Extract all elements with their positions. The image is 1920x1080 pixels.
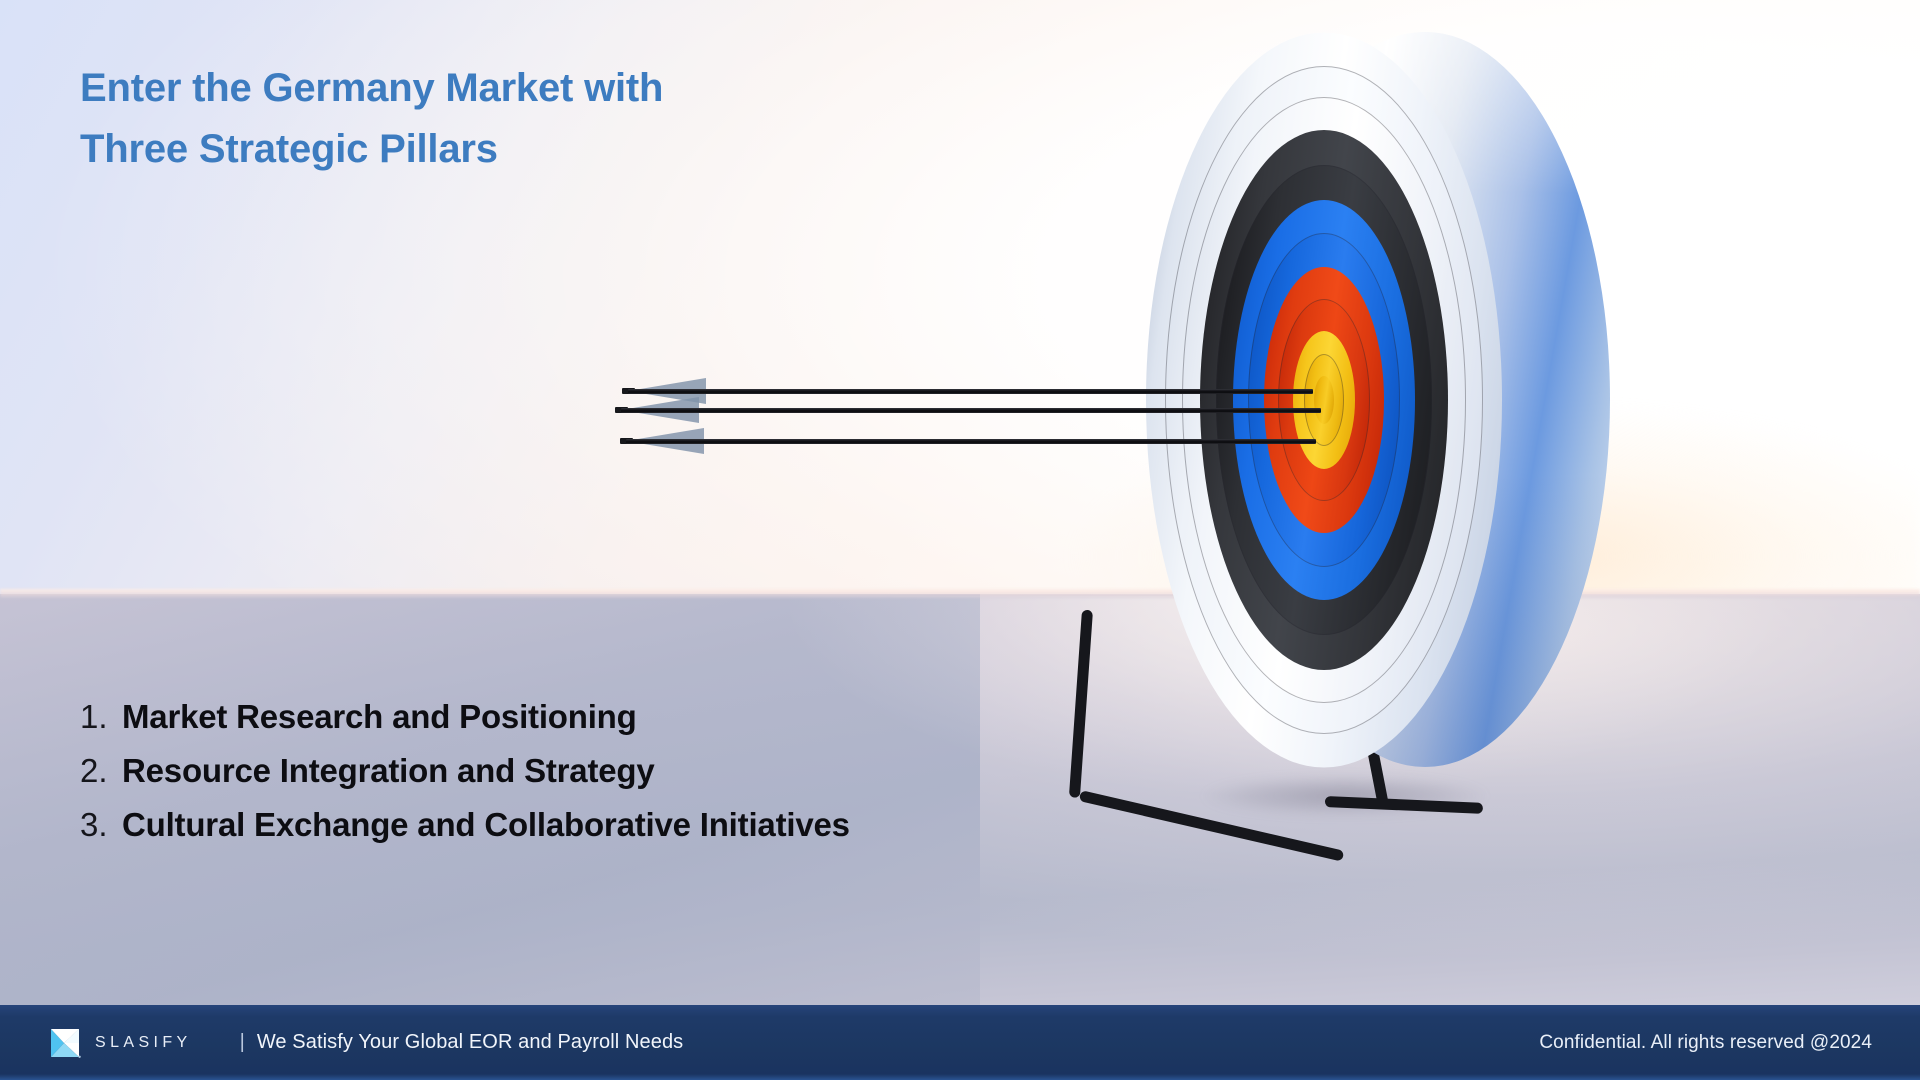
arrow-3-shaft	[626, 439, 1316, 444]
list-item-number: 3.	[80, 808, 122, 841]
archery-target-illustration	[1120, 10, 1640, 1020]
brand-wordmark: SLASIFY	[95, 1034, 192, 1052]
list-item: 3. Cultural Exchange and Collaborative I…	[80, 808, 1140, 841]
slide-canvas: Enter the Germany Market with Three Stra…	[0, 0, 1920, 1080]
footer-copyright: Confidential. All rights reserved @2024	[1539, 1032, 1872, 1054]
list-item-label: Cultural Exchange and Collaborative Init…	[122, 808, 850, 841]
arrow-1-shaft	[628, 389, 1313, 394]
arrow-2-shaft	[621, 408, 1321, 413]
footer-divider: |	[240, 1031, 245, 1054]
strategic-pillars-list: 1. Market Research and Positioning 2. Re…	[80, 700, 1140, 841]
list-item: 2. Resource Integration and Strategy	[80, 754, 1140, 787]
list-item-label: Market Research and Positioning	[122, 700, 637, 733]
footer-bar: SLASIFY | We Satisfy Your Global EOR and…	[0, 1005, 1920, 1080]
slide-title: Enter the Germany Market with Three Stra…	[80, 58, 980, 180]
list-item: 1. Market Research and Positioning	[80, 700, 1140, 733]
list-item-number: 1.	[80, 700, 122, 733]
list-item-number: 2.	[80, 754, 122, 787]
target-ring-divider-6	[1304, 354, 1344, 446]
slide-title-line-2: Three Strategic Pillars	[80, 119, 980, 180]
footer-brand-group: SLASIFY | We Satisfy Your Global EOR and…	[48, 1026, 683, 1060]
list-item-label: Resource Integration and Strategy	[122, 754, 655, 787]
slasify-logo-icon	[48, 1026, 82, 1060]
slide-title-line-1: Enter the Germany Market with	[80, 58, 980, 119]
target-face	[1146, 32, 1502, 767]
footer-tagline: We Satisfy Your Global EOR and Payroll N…	[257, 1031, 683, 1054]
